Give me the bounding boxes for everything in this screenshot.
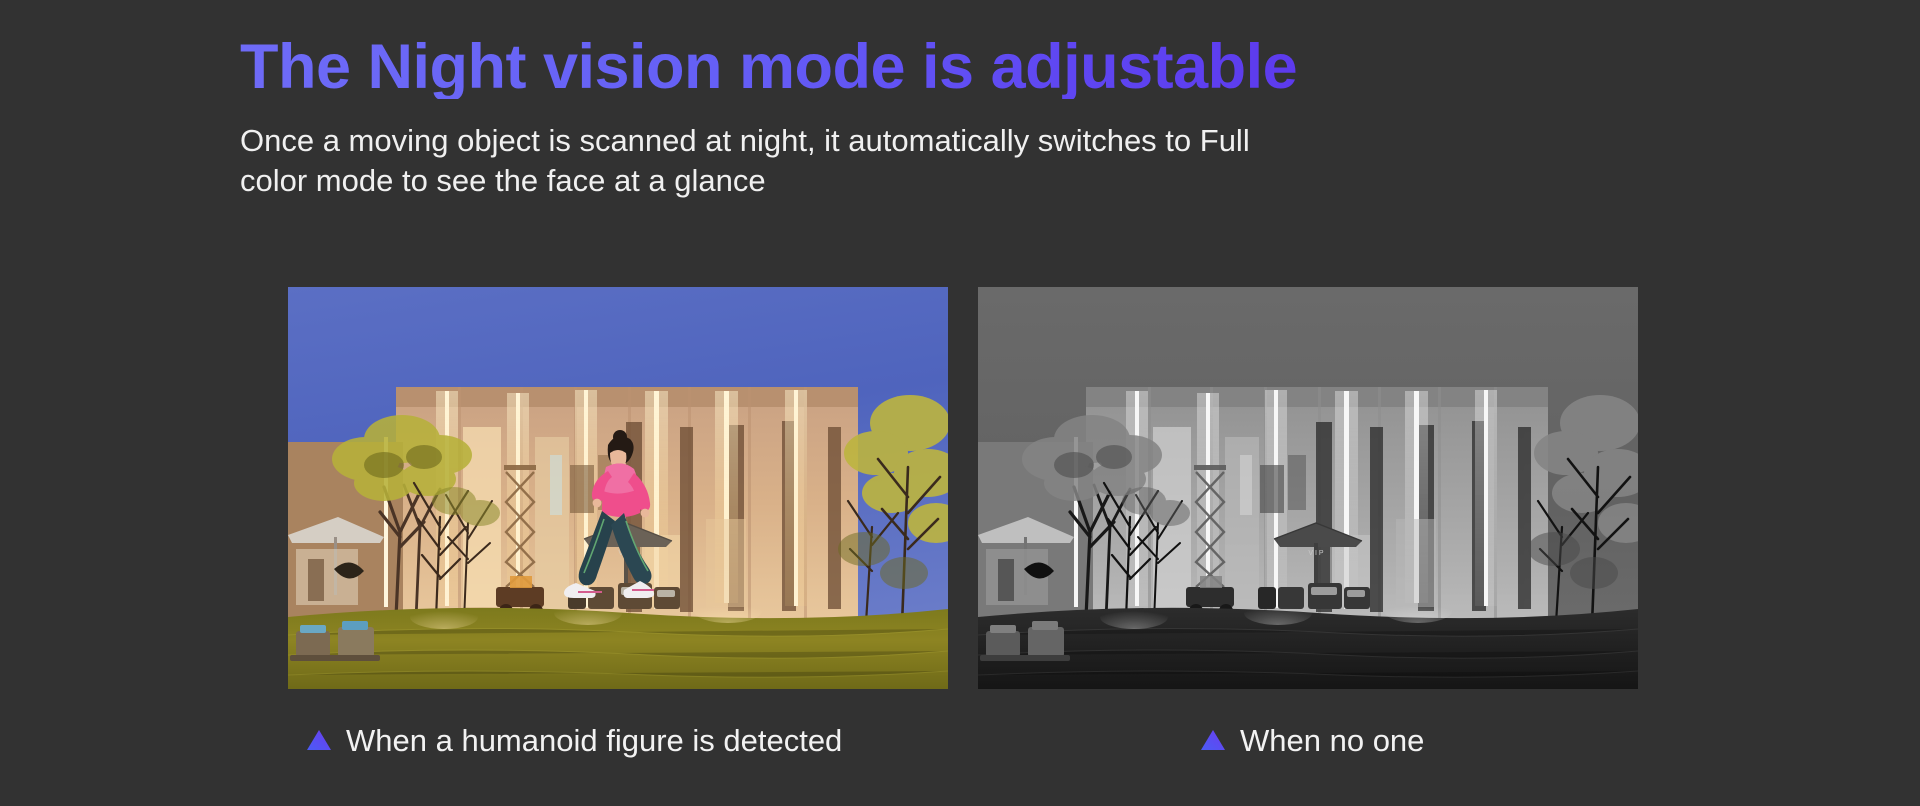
night-vision-photo: V I P <box>978 287 1638 689</box>
caption-night-vision: When no one <box>1200 715 1424 765</box>
night-vision-scene-illustration: V I P <box>978 287 1638 689</box>
full-color-scene-illustration: V I P <box>288 287 948 689</box>
caption-text-full-color: When a humanoid figure is detected <box>346 725 842 756</box>
caption-text-night-vision: When no one <box>1240 725 1424 756</box>
triangle-up-icon <box>306 729 332 751</box>
page-title: The Night vision mode is adjustable <box>240 36 1560 99</box>
caption-row: When a humanoid figure is detected When … <box>288 715 1638 765</box>
caption-full-color: When a humanoid figure is detected <box>306 715 842 765</box>
comparison-photo-row: V I P <box>288 287 1638 689</box>
night-vision-promo-panel: The Night vision mode is adjustable Once… <box>0 0 1920 806</box>
svg-text:V I P: V I P <box>1308 550 1324 557</box>
headline-block: The Night vision mode is adjustable Once… <box>240 36 1560 200</box>
full-color-photo: V I P <box>288 287 948 689</box>
triangle-up-icon <box>1200 729 1226 751</box>
page-subtitle: Once a moving object is scanned at night… <box>240 121 1260 200</box>
